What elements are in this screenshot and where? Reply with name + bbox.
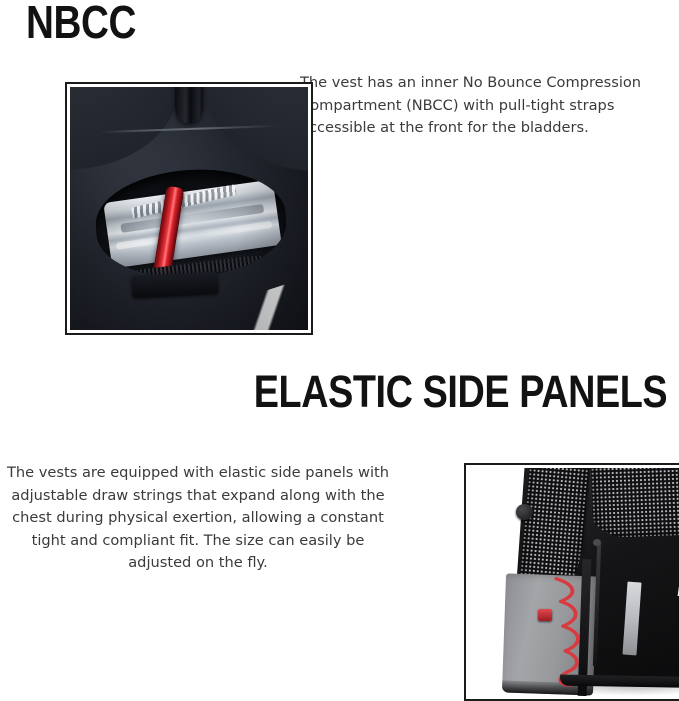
zipper-pull xyxy=(593,539,601,546)
description-elastic-side-panels: The vests are equipped with elastic side… xyxy=(2,462,394,575)
description-nbcc: The vest has an inner No Bounce Compress… xyxy=(300,72,679,140)
draw-string-lacing xyxy=(545,573,590,687)
drop-shadow xyxy=(545,685,679,696)
nbcc-photo-canvas xyxy=(70,87,308,330)
vest-mesh-panel-back xyxy=(591,468,679,539)
page-title-nbcc: NBCC xyxy=(26,0,136,45)
elastic-side-panel-photo xyxy=(464,463,679,701)
nbcc-compartment-photo xyxy=(65,82,313,335)
bladder-label xyxy=(132,184,238,218)
cord-lock xyxy=(538,609,552,620)
page-title-elastic-side-panels: ELASTIC SIDE PANELS xyxy=(254,369,667,414)
elastic-photo-canvas xyxy=(469,468,679,696)
draw-string-svg xyxy=(545,573,590,687)
pull-tight-strap xyxy=(131,272,218,298)
vest-top-strap xyxy=(175,87,204,123)
feature-sheet-page: NBCC The vest has an inner No Bounce Com… xyxy=(0,0,679,692)
